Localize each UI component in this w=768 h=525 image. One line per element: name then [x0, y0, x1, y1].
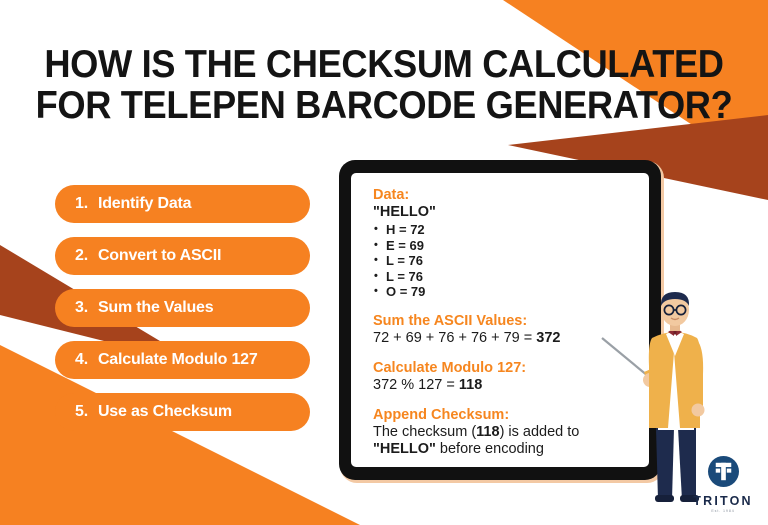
step-number: 1. — [75, 195, 88, 213]
title-line-2: FOR TELEPEN BARCODE GENERATOR? — [27, 85, 741, 126]
pointer-stick — [602, 338, 648, 376]
teacher-shoe-left — [655, 495, 674, 502]
list-item: L = 76 — [373, 253, 633, 269]
append-text-prefix: The checksum ( — [373, 424, 476, 440]
append-text-row-2: "HELLO" before encoding — [373, 441, 633, 458]
triton-mark-icon — [708, 456, 739, 487]
append-quoted-data: "HELLO" — [373, 441, 436, 457]
logo-wordmark: TRITON — [690, 494, 756, 508]
append-heading: Append Checksum: — [373, 407, 633, 424]
step-label: Use as Checksum — [98, 403, 232, 421]
logo-tagline: Est. 1984 — [690, 509, 756, 513]
step-item-4[interactable]: 4. Calculate Modulo 127 — [55, 341, 310, 379]
sum-expression-row: 72 + 69 + 76 + 76 + 79 = 372 — [373, 330, 633, 347]
step-label: Convert to ASCII — [98, 247, 221, 265]
step-item-2[interactable]: 2. Convert to ASCII — [55, 237, 310, 275]
ascii-bullet-list: H = 72 E = 69 L = 76 L = 76 O = 79 — [373, 222, 633, 300]
step-number: 5. — [75, 403, 88, 421]
append-checksum-value: 118 — [476, 424, 499, 440]
sum-result: 372 — [536, 330, 560, 346]
list-item: O = 79 — [373, 284, 633, 300]
modulo-result: 118 — [459, 377, 482, 393]
sum-expression: 72 + 69 + 76 + 76 + 79 = — [373, 330, 536, 346]
step-number: 4. — [75, 351, 88, 369]
list-item: L = 76 — [373, 269, 633, 285]
sum-heading: Sum the ASCII Values: — [373, 313, 633, 330]
step-item-3[interactable]: 3. Sum the Values — [55, 289, 310, 327]
step-number: 2. — [75, 247, 88, 265]
steps-list: 1. Identify Data 2. Convert to ASCII 3. … — [55, 185, 310, 445]
triton-logo: TRITON Est. 1984 — [690, 456, 756, 513]
data-heading: Data: — [373, 187, 633, 204]
title-line-1: HOW IS THE CHECKSUM CALCULATED — [27, 44, 741, 85]
teacher-leg-left — [656, 428, 674, 500]
teacher-arm-right — [692, 340, 703, 406]
page-title: HOW IS THE CHECKSUM CALCULATED FOR TELEP… — [0, 44, 768, 126]
step-item-5[interactable]: 5. Use as Checksum — [55, 393, 310, 431]
step-label: Calculate Modulo 127 — [98, 351, 258, 369]
modulo-expression: 372 % 127 = — [373, 377, 459, 393]
data-value: "HELLO" — [373, 204, 633, 221]
list-item: H = 72 — [373, 222, 633, 238]
append-text-middle: ) is added to — [500, 424, 580, 440]
teacher-hand-right — [692, 404, 705, 417]
step-label: Sum the Values — [98, 299, 213, 317]
step-number: 3. — [75, 299, 88, 317]
modulo-expression-row: 372 % 127 = 118 — [373, 377, 633, 394]
append-text-suffix: before encoding — [436, 441, 544, 457]
infographic-canvas: HOW IS THE CHECKSUM CALCULATED FOR TELEP… — [0, 0, 768, 525]
modulo-heading: Calculate Modulo 127: — [373, 360, 633, 377]
append-text-row-1: The checksum (118) is added to — [373, 424, 633, 441]
step-label: Identify Data — [98, 195, 191, 213]
step-item-1[interactable]: 1. Identify Data — [55, 185, 310, 223]
list-item: E = 69 — [373, 238, 633, 254]
